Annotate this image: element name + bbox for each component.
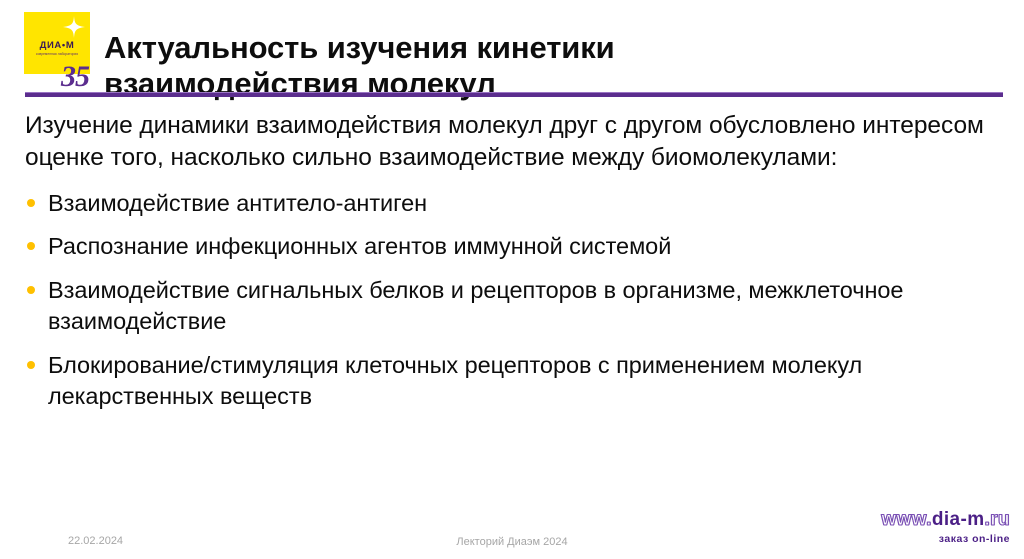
slide-canvas: ДИА•М современная лаборатория 35 Актуаль… [0,0,1024,559]
logo-anniversary-number: 35 [61,62,89,92]
intro-paragraph: Изучение динамики взаимодействия молекул… [25,110,985,174]
list-item-label: Взаимодействие антитело-антиген [48,190,427,216]
list-item-label: Распознание инфекционных агентов иммунно… [48,233,671,259]
brand-subtitle: заказ on-line [881,534,1010,545]
bullet-dot-icon [27,286,35,294]
list-item-label: Блокирование/стимуляция клеточных рецепт… [48,352,862,409]
sparkle-icon [63,16,85,38]
footer-event-label: Лекторий Диаэм 2024 [0,536,1024,548]
bullet-dot-icon [27,361,35,369]
brand-url-main: dia-m [932,509,985,530]
diam-logo: ДИА•М современная лаборатория 35 [24,12,90,80]
list-item: Взаимодействие сигнальных белков и рецеп… [25,275,985,337]
list-item: Взаимодействие антитело-антиген [25,188,985,219]
footer-brand[interactable]: www.dia-m.ru заказ on-line [881,510,1010,545]
slide-content: Изучение динамики взаимодействия молекул… [25,110,985,424]
logo-brand-word: ДИА•М [24,41,90,51]
list-item: Распознание инфекционных агентов иммунно… [25,231,985,262]
brand-url-prefix: www. [881,509,932,530]
list-item-label: Взаимодействие сигнальных белков и рецеп… [48,277,903,334]
bullet-list: Взаимодействие антитело-антиген Распозна… [25,188,985,412]
bullet-dot-icon [27,199,35,207]
brand-url-suffix: .ru [985,509,1010,530]
logo-tagline: современная лаборатория [26,53,89,56]
list-item: Блокирование/стимуляция клеточных рецепт… [25,350,985,412]
page-title: Актуальность изучения кинетики взаимодей… [104,30,864,102]
title-divider [25,92,1003,97]
bullet-dot-icon [27,242,35,250]
brand-url[interactable]: www.dia-m.ru [881,510,1010,529]
